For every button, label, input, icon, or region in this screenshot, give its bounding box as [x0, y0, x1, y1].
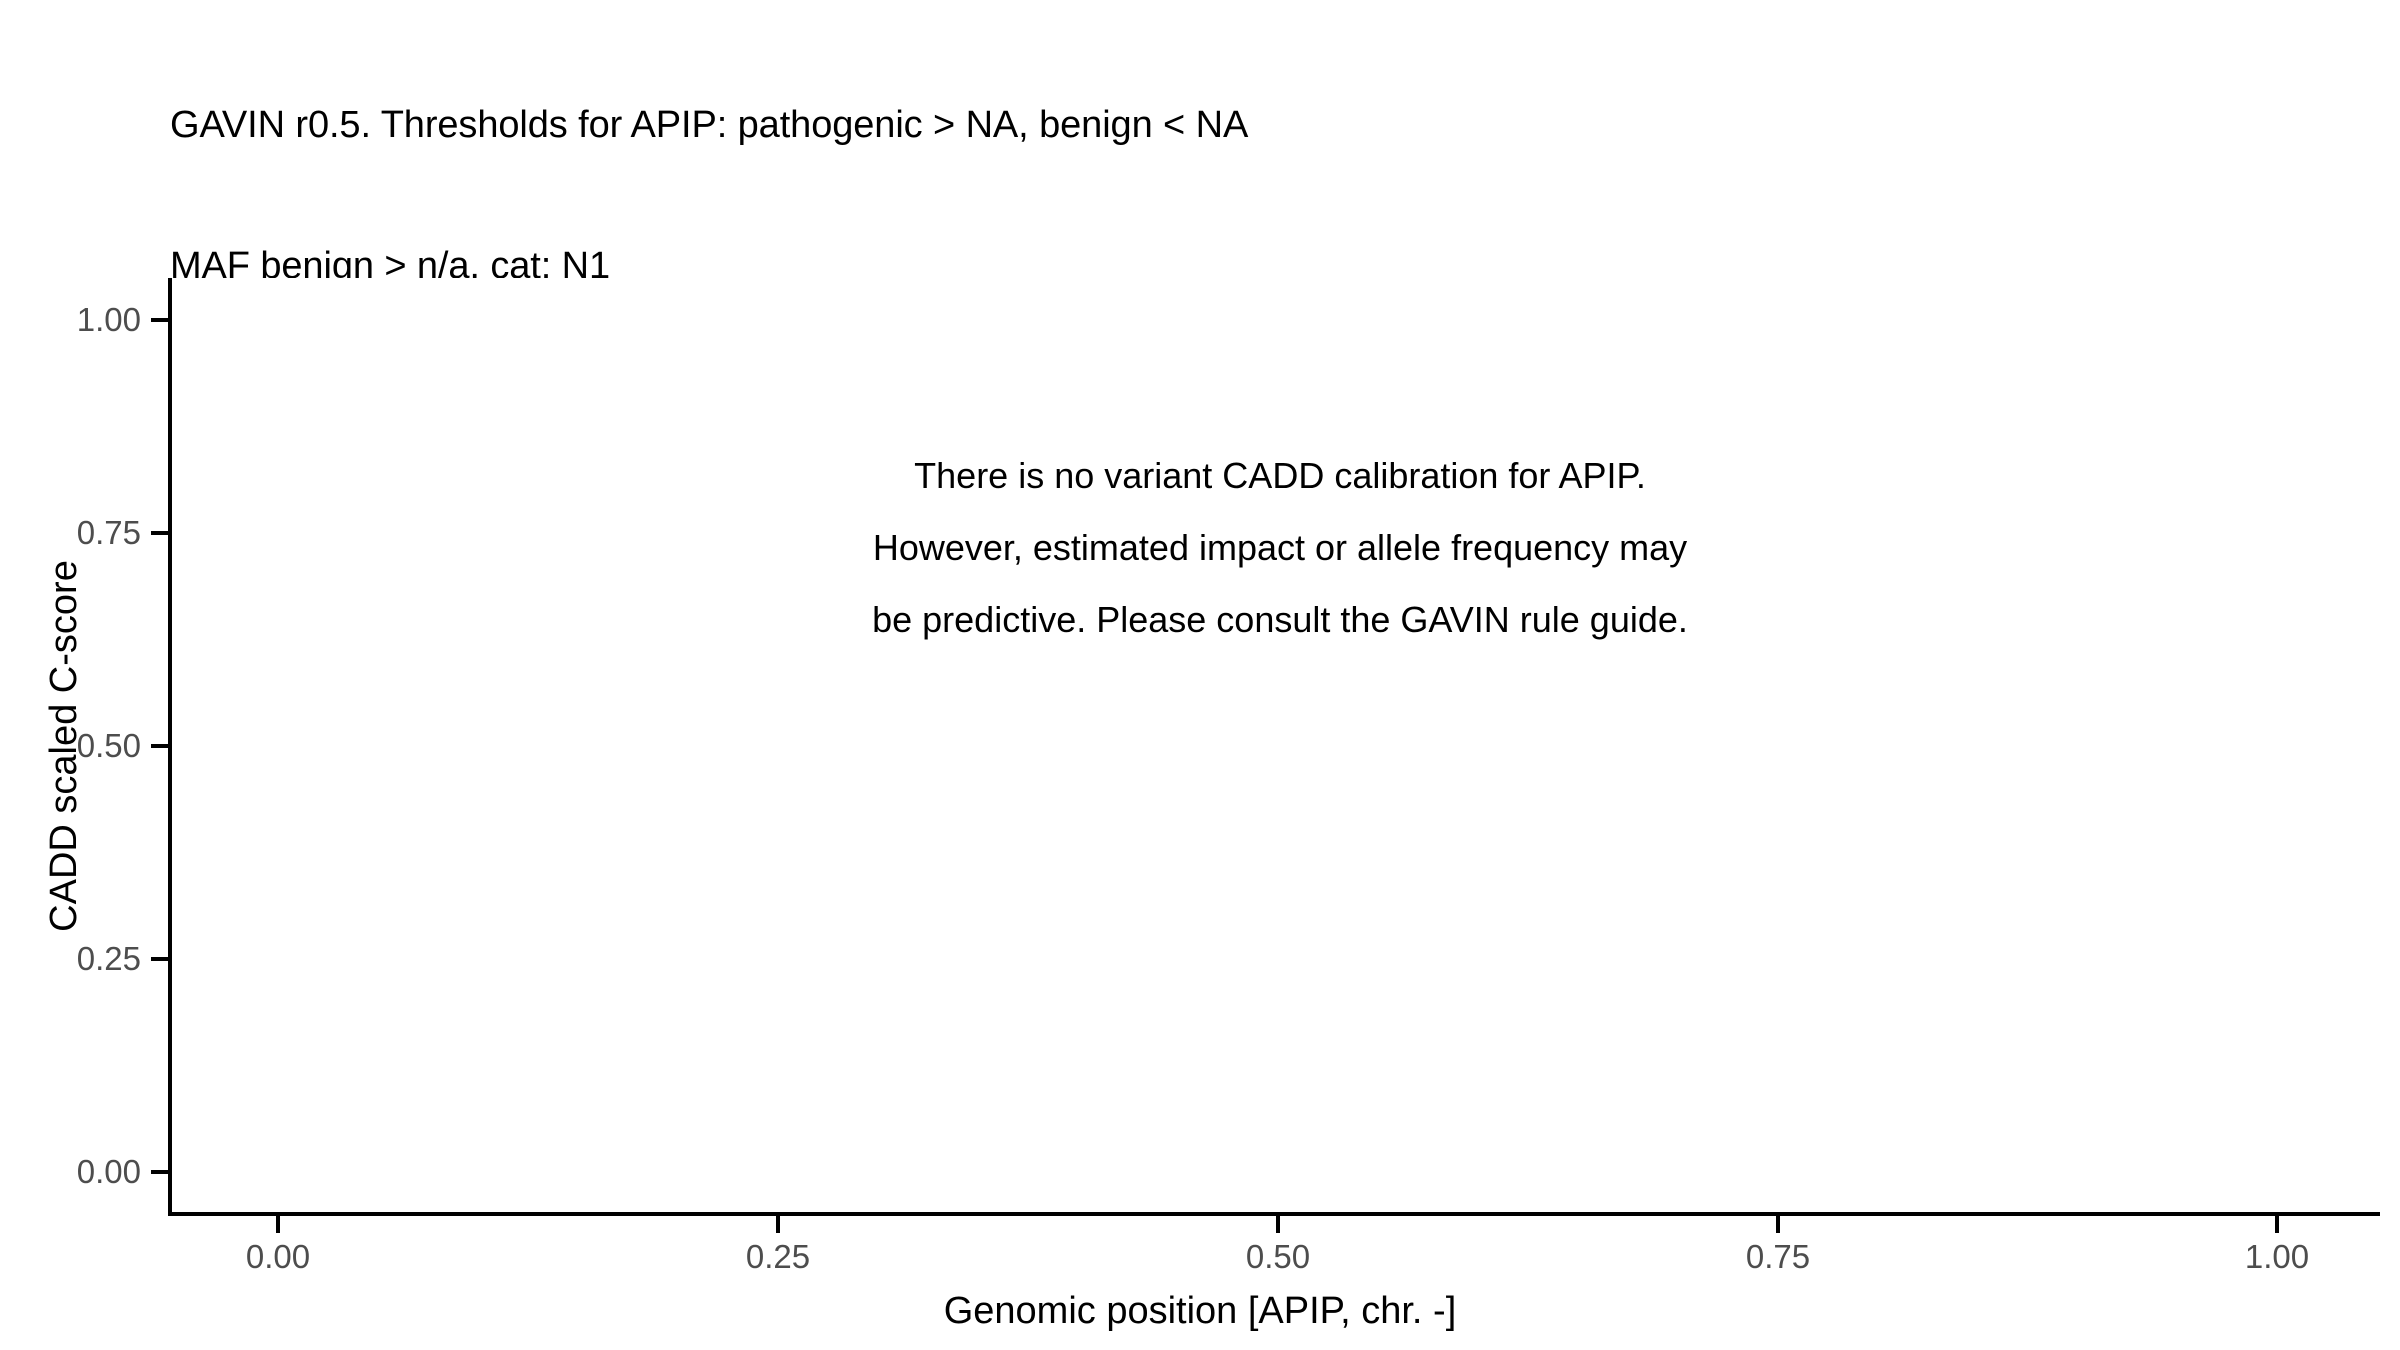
x-tick-mark-100 [2275, 1216, 2279, 1233]
y-tick-label-100: 1.00 [77, 301, 141, 339]
x-tick-label-100: 1.00 [2245, 1238, 2309, 1276]
x-tick-mark-025 [776, 1216, 780, 1233]
x-axis-line [168, 1212, 2380, 1216]
y-axis-line [168, 278, 172, 1216]
panel-annotation: There is no variant CADD calibration for… [872, 440, 1688, 656]
chart-title-line-1: GAVIN r0.5. Thresholds for APIP: pathoge… [170, 102, 2070, 149]
x-tick-mark-075 [1776, 1216, 1780, 1233]
x-tick-label-075: 0.75 [1746, 1238, 1810, 1276]
x-tick-label-000: 0.00 [246, 1238, 310, 1276]
x-tick-label-025: 0.25 [746, 1238, 810, 1276]
y-tick-label-000: 0.00 [77, 1153, 141, 1191]
x-axis-title: Genomic position [APIP, chr. -] [0, 1290, 2400, 1333]
y-tick-label-025: 0.25 [77, 940, 141, 978]
chart-canvas: GAVIN r0.5. Thresholds for APIP: pathoge… [0, 0, 2400, 1350]
panel-annotation-line-3: be predictive. Please consult the GAVIN … [872, 584, 1688, 656]
y-tick-label-050: 0.50 [77, 727, 141, 765]
y-tick-mark-050 [151, 744, 168, 748]
y-tick-mark-100 [151, 318, 168, 322]
panel-annotation-line-1: There is no variant CADD calibration for… [872, 440, 1688, 512]
x-tick-label-050: 0.50 [1246, 1238, 1310, 1276]
y-tick-mark-000 [151, 1170, 168, 1174]
y-tick-mark-025 [151, 957, 168, 961]
x-tick-mark-050 [1276, 1216, 1280, 1233]
y-tick-mark-075 [151, 531, 168, 535]
x-tick-mark-000 [276, 1216, 280, 1233]
plot-panel [170, 278, 2378, 1214]
panel-annotation-line-2: However, estimated impact or allele freq… [872, 512, 1688, 584]
y-axis-title: CADD scaled C-score [42, 278, 86, 1214]
y-tick-label-075: 0.75 [77, 514, 141, 552]
